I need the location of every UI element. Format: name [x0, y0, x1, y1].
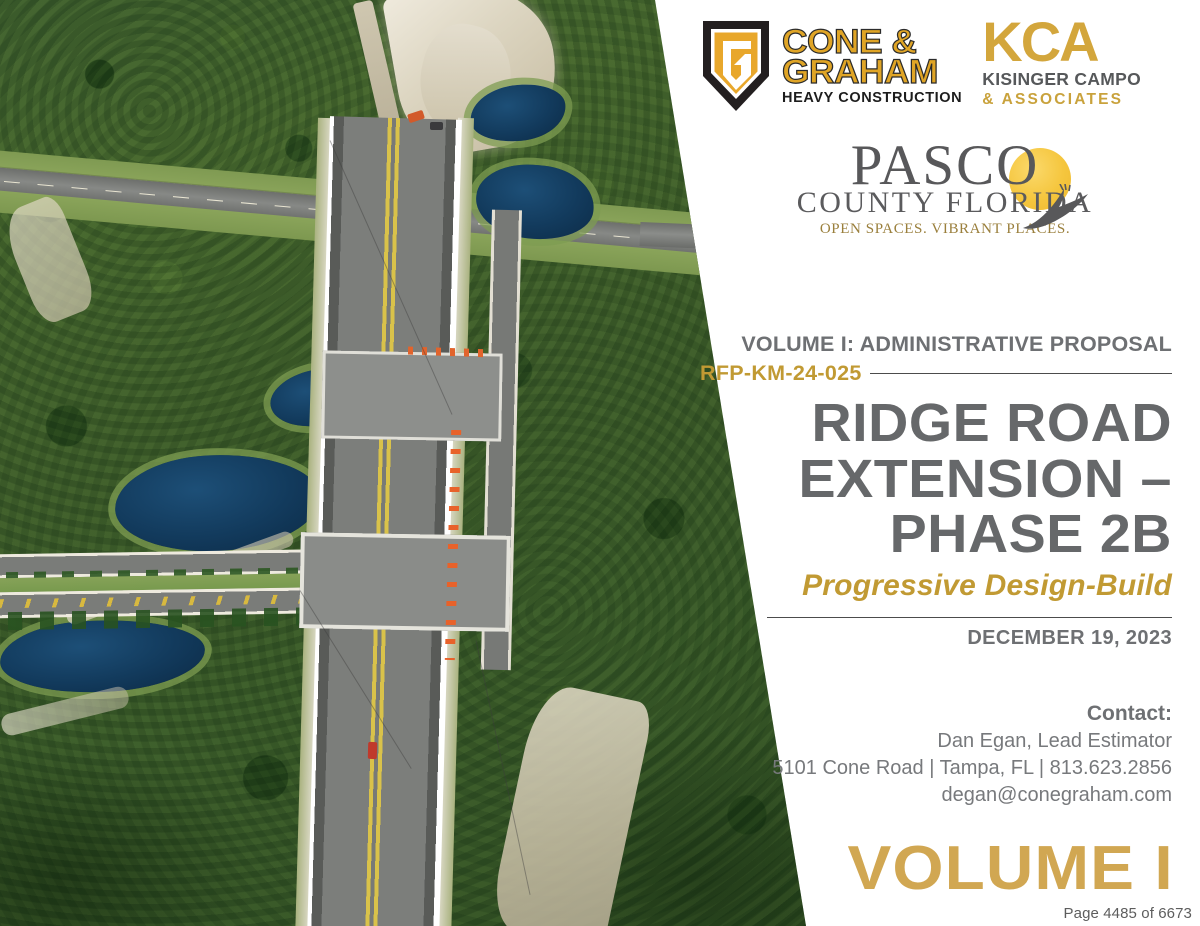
rfp-row: RFP-KM-24-025 — [700, 361, 1172, 386]
project-subtitle: Progressive Design-Build — [700, 569, 1172, 603]
footer-volume-label: VOLUME I — [848, 838, 1174, 900]
partner-logos: CONE & GRAHAM HEAVY CONSTRUCTION KCA KIS… — [700, 18, 1180, 133]
cover-content-panel: CONE & GRAHAM HEAVY CONSTRUCTION KCA KIS… — [700, 0, 1200, 926]
main-intersection — [299, 532, 511, 632]
construction-equipment — [430, 122, 443, 130]
proposal-cover-page: CONE & GRAHAM HEAVY CONSTRUCTION KCA KIS… — [0, 0, 1200, 926]
submission-date: DECEMBER 19, 2023 — [700, 627, 1172, 650]
title-line-3: PHASE 2B — [890, 504, 1172, 564]
cg-line-2: GRAHAM — [782, 58, 969, 88]
date-divider — [767, 617, 1172, 619]
contact-block: Contact: Dan Egan, Lead Estimator 5101 C… — [732, 700, 1172, 809]
contact-person: Dan Egan, Lead Estimator — [732, 728, 1172, 755]
rfp-divider — [870, 373, 1172, 375]
cg-shield-icon — [700, 18, 772, 114]
kca-line-2: & ASSOCIATES — [982, 91, 1141, 109]
kca-wordmark: KCA — [982, 18, 1141, 66]
kca-logo: KCA KISINGER CAMPO & ASSOCIATES — [982, 18, 1141, 109]
kca-line-1: KISINGER CAMPO — [982, 69, 1141, 90]
volume-label: VOLUME I: ADMINISTRATIVE PROPOSAL — [700, 332, 1172, 357]
contact-heading: Contact: — [732, 700, 1172, 728]
title-line-1: RIDGE ROAD — [811, 393, 1172, 453]
title-block: VOLUME I: ADMINISTRATIVE PROPOSAL RFP-KM… — [700, 332, 1172, 650]
page-title: RIDGE ROADEXTENSION –PHASE 2B — [686, 396, 1172, 563]
rfp-number: RFP-KM-24-025 — [700, 361, 862, 386]
contact-email: degan@conegraham.com — [732, 782, 1172, 809]
vehicle-on-road — [368, 742, 377, 759]
cg-tagline: HEAVY CONSTRUCTION — [782, 92, 962, 105]
page-number-stamp: Page 4485 of 6673 — [1064, 905, 1192, 922]
north-intersection — [321, 350, 503, 441]
cone-graham-wordmark: CONE & GRAHAM HEAVY CONSTRUCTION — [782, 28, 962, 105]
title-line-2: EXTENSION – — [799, 449, 1172, 509]
cone-graham-logo: CONE & GRAHAM HEAVY CONSTRUCTION — [700, 18, 962, 114]
pasco-county-logo: PASCO COUNTY FLORIDA OPEN SPACES. VIBRAN… — [795, 140, 1095, 260]
contact-address: 5101 Cone Road | Tampa, FL | 813.623.285… — [732, 755, 1172, 782]
bird-icon — [1019, 184, 1091, 234]
ridge-road-mainline — [307, 116, 462, 926]
